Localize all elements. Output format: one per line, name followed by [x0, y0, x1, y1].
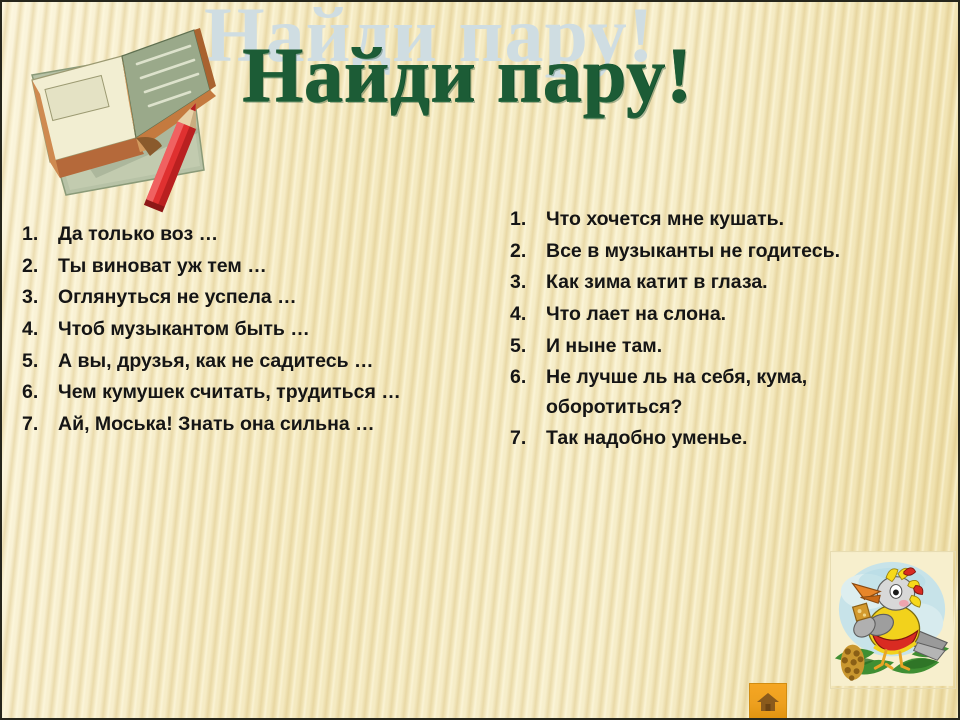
list-item-text: Оглянуться не успела … — [58, 283, 472, 313]
list-item: 7. Ай, Моська! Знать она сильна … — [22, 410, 472, 440]
list-item-number: 5. — [22, 347, 58, 377]
list-item-number: 2. — [22, 252, 58, 282]
list-item-text: Да только воз … — [58, 220, 472, 250]
list-item-text: Что лает на слона. — [546, 300, 930, 330]
list-item-text: И ныне там. — [546, 332, 930, 362]
list-item-number: 1. — [510, 205, 546, 235]
list-item-number: 5. — [510, 332, 546, 362]
slide-canvas: Найди пару! Найди пару! — [0, 0, 960, 720]
open-book-icon — [4, 20, 234, 220]
list-item: 4. Что лает на слона. — [510, 300, 930, 330]
crow-icon — [830, 551, 956, 689]
list-item-text: Чем кумушек считать, трудиться … — [58, 378, 472, 408]
list-item: 3. Как зима катит в глаза. — [510, 268, 930, 298]
list-item-number: 7. — [510, 424, 546, 454]
list-item-text: Как зима катит в глаза. — [546, 268, 930, 298]
page-title-shadow: Найди пару! — [204, 0, 960, 74]
right-phrase-list: 1. Что хочется мне кушать. 2. Все в музы… — [510, 205, 930, 456]
list-item: 6. Чем кумушек считать, трудиться … — [22, 378, 472, 408]
list-item-number: 6. — [22, 378, 58, 408]
list-item-number: 6. — [510, 363, 546, 393]
list-item: 7. Так надобно уменье. — [510, 424, 930, 454]
list-item-number: 7. — [22, 410, 58, 440]
list-item-text: Чтоб музыкантом быть … — [58, 315, 472, 345]
list-item: 1. Да только воз … — [22, 220, 472, 250]
list-item-number: 4. — [22, 315, 58, 345]
slide-title-block: Найди пару! Найди пару! — [182, 0, 960, 134]
list-item: 2. Ты виноват уж тем … — [22, 252, 472, 282]
list-item-number: 3. — [510, 268, 546, 298]
list-item-text: Ай, Моська! Знать она сильна … — [58, 410, 472, 440]
left-phrase-list: 1. Да только воз … 2. Ты виноват уж тем … — [22, 220, 472, 441]
list-item: 2. Все в музыканты не годитесь. — [510, 237, 930, 267]
list-item: 1. Что хочется мне кушать. — [510, 205, 930, 235]
list-item: 4. Чтоб музыкантом быть … — [22, 315, 472, 345]
list-item-number: 1. — [22, 220, 58, 250]
list-item-text: Не лучше ль на себя, кума, оборотиться? — [546, 363, 930, 422]
list-item-number: 2. — [510, 237, 546, 267]
list-item-text: А вы, друзья, как не садитесь … — [58, 347, 472, 377]
list-item-text: Все в музыканты не годитесь. — [546, 237, 930, 267]
list-item-number: 3. — [22, 283, 58, 313]
page-title: Найди пару! — [242, 36, 960, 114]
list-item-text: Что хочется мне кушать. — [546, 205, 930, 235]
list-item: 3. Оглянуться не успела … — [22, 283, 472, 313]
list-item: 5. И ныне там. — [510, 332, 930, 362]
list-item: 6. Не лучше ль на себя, кума, оборотитьс… — [510, 363, 930, 422]
list-item-text: Ты виноват уж тем … — [58, 252, 472, 282]
home-button[interactable] — [749, 683, 787, 720]
list-item: 5. А вы, друзья, как не садитесь … — [22, 347, 472, 377]
list-item-text: Так надобно уменье. — [546, 424, 930, 454]
list-item-number: 4. — [510, 300, 546, 330]
home-icon — [756, 691, 780, 713]
